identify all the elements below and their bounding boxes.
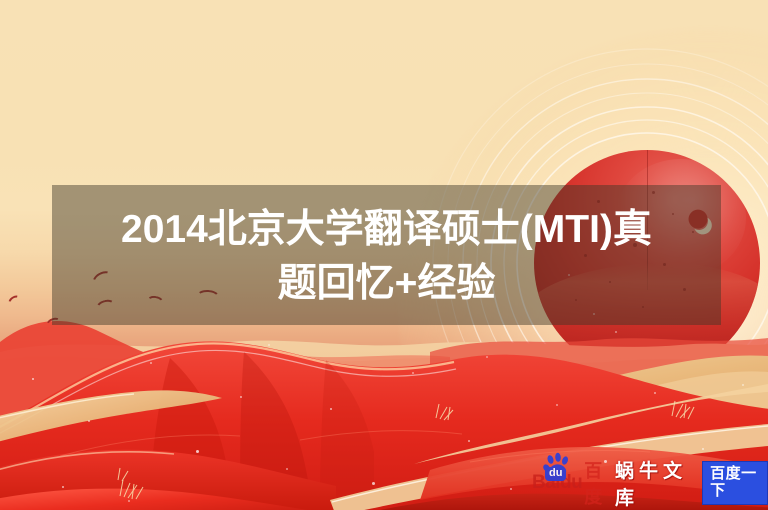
baidu-chinese-wordmark: 百度 [584, 457, 603, 509]
watermark: Baidu 百度 du 蜗牛文库 百度一下 [532, 466, 768, 500]
title-line-2: 题回忆+经验 [278, 257, 496, 311]
poster-image: 2014北京大学翻译硕士(MTI)真 题回忆+经验 Baidu 百度 du 蜗牛… [0, 0, 768, 510]
title-line-1: 2014北京大学翻译硕士(MTI)真 [121, 203, 652, 257]
site-name: 蜗牛文库 [615, 456, 692, 510]
baidu-logo: Baidu 百度 du [532, 457, 603, 509]
baidu-search-button[interactable]: 百度一下 [702, 461, 768, 505]
baidu-du-badge: du [545, 467, 566, 481]
title-overlay: 2014北京大学翻译硕士(MTI)真 题回忆+经验 [52, 185, 721, 325]
